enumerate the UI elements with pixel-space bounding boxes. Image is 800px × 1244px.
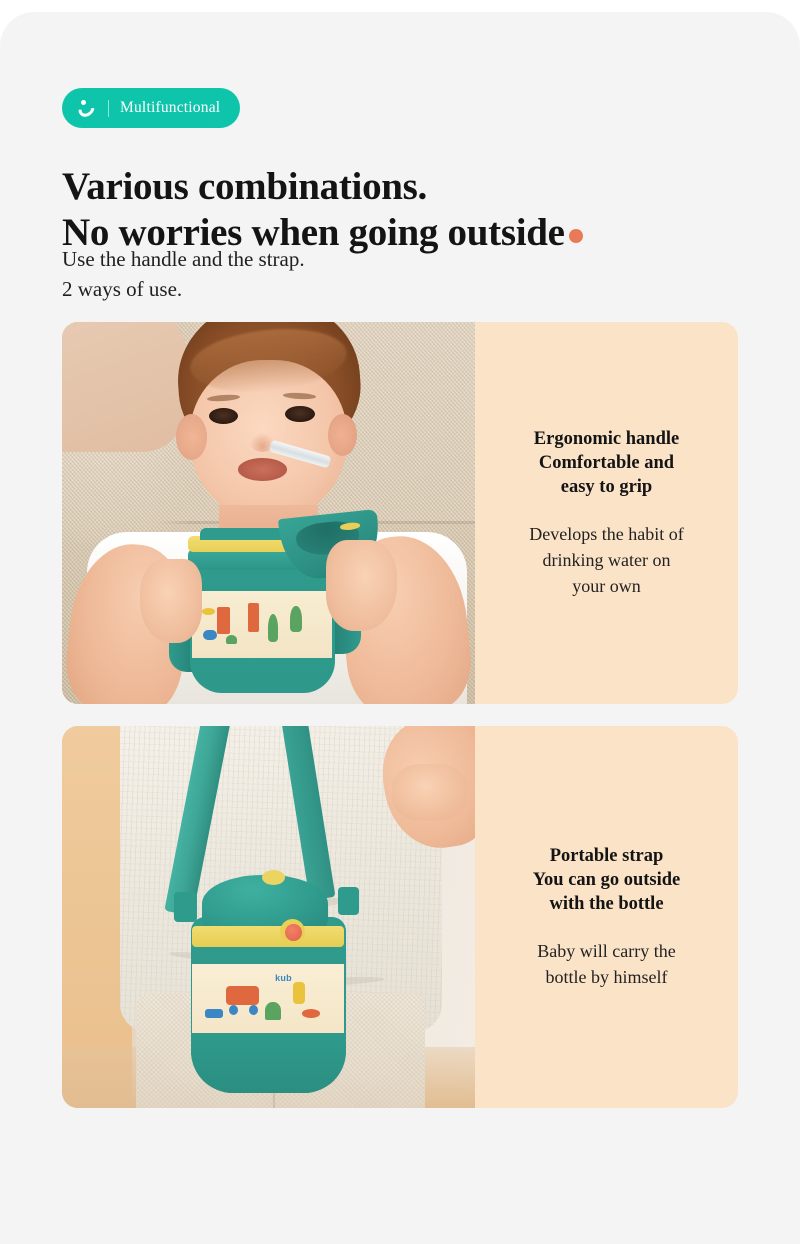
body-line: Baby will carry the <box>537 938 675 964</box>
title-line: easy to grip <box>534 475 679 499</box>
title-line: Ergonomic handle <box>534 427 679 451</box>
feature-body-handle: Develops the habit of drinking water on … <box>529 521 683 599</box>
feature-photo-handle <box>62 322 475 704</box>
feature-title-strap: Portable strap You can go outside with t… <box>533 844 681 916</box>
body-line: drinking water on <box>529 547 683 573</box>
title-line: Comfortable and <box>534 451 679 475</box>
body-line: bottle by himself <box>537 964 675 990</box>
title-line: Portable strap <box>533 844 681 868</box>
feature-card-strap: kub Portable strap You can go outside wi… <box>62 726 738 1108</box>
feature-photo-strap: kub <box>62 726 475 1108</box>
subtitle-line-2: 2 ways of use. <box>62 274 702 304</box>
subtitle-line-1: Use the handle and the strap. <box>62 244 702 274</box>
body-line: your own <box>529 573 683 599</box>
page-panel: Multifunctional Various combinations. No… <box>0 12 800 1244</box>
title-line: You can go outside <box>533 868 681 892</box>
body-line: Develops the habit of <box>529 521 683 547</box>
feature-body-strap: Baby will carry the bottle by himself <box>537 938 675 990</box>
accent-dot-icon <box>569 229 583 243</box>
headline-line-1: Various combinations. <box>62 164 762 210</box>
badge-divider <box>108 100 109 117</box>
page-subtitle: Use the handle and the strap. 2 ways of … <box>62 244 702 304</box>
feature-title-handle: Ergonomic handle Comfortable and easy to… <box>534 427 679 499</box>
page-headline: Various combinations. No worries when go… <box>62 164 762 256</box>
badge-label: Multifunctional <box>120 100 220 116</box>
smiley-face-icon <box>76 97 98 119</box>
bottle-brand-label: kub <box>275 973 292 983</box>
multifunctional-badge: Multifunctional <box>62 88 240 128</box>
water-bottle-graphic: kub <box>186 879 351 1093</box>
title-line: with the bottle <box>533 892 681 916</box>
feature-card-handle: Ergonomic handle Comfortable and easy to… <box>62 322 738 704</box>
feature-text-handle: Ergonomic handle Comfortable and easy to… <box>475 322 738 704</box>
feature-text-strap: Portable strap You can go outside with t… <box>475 726 738 1108</box>
